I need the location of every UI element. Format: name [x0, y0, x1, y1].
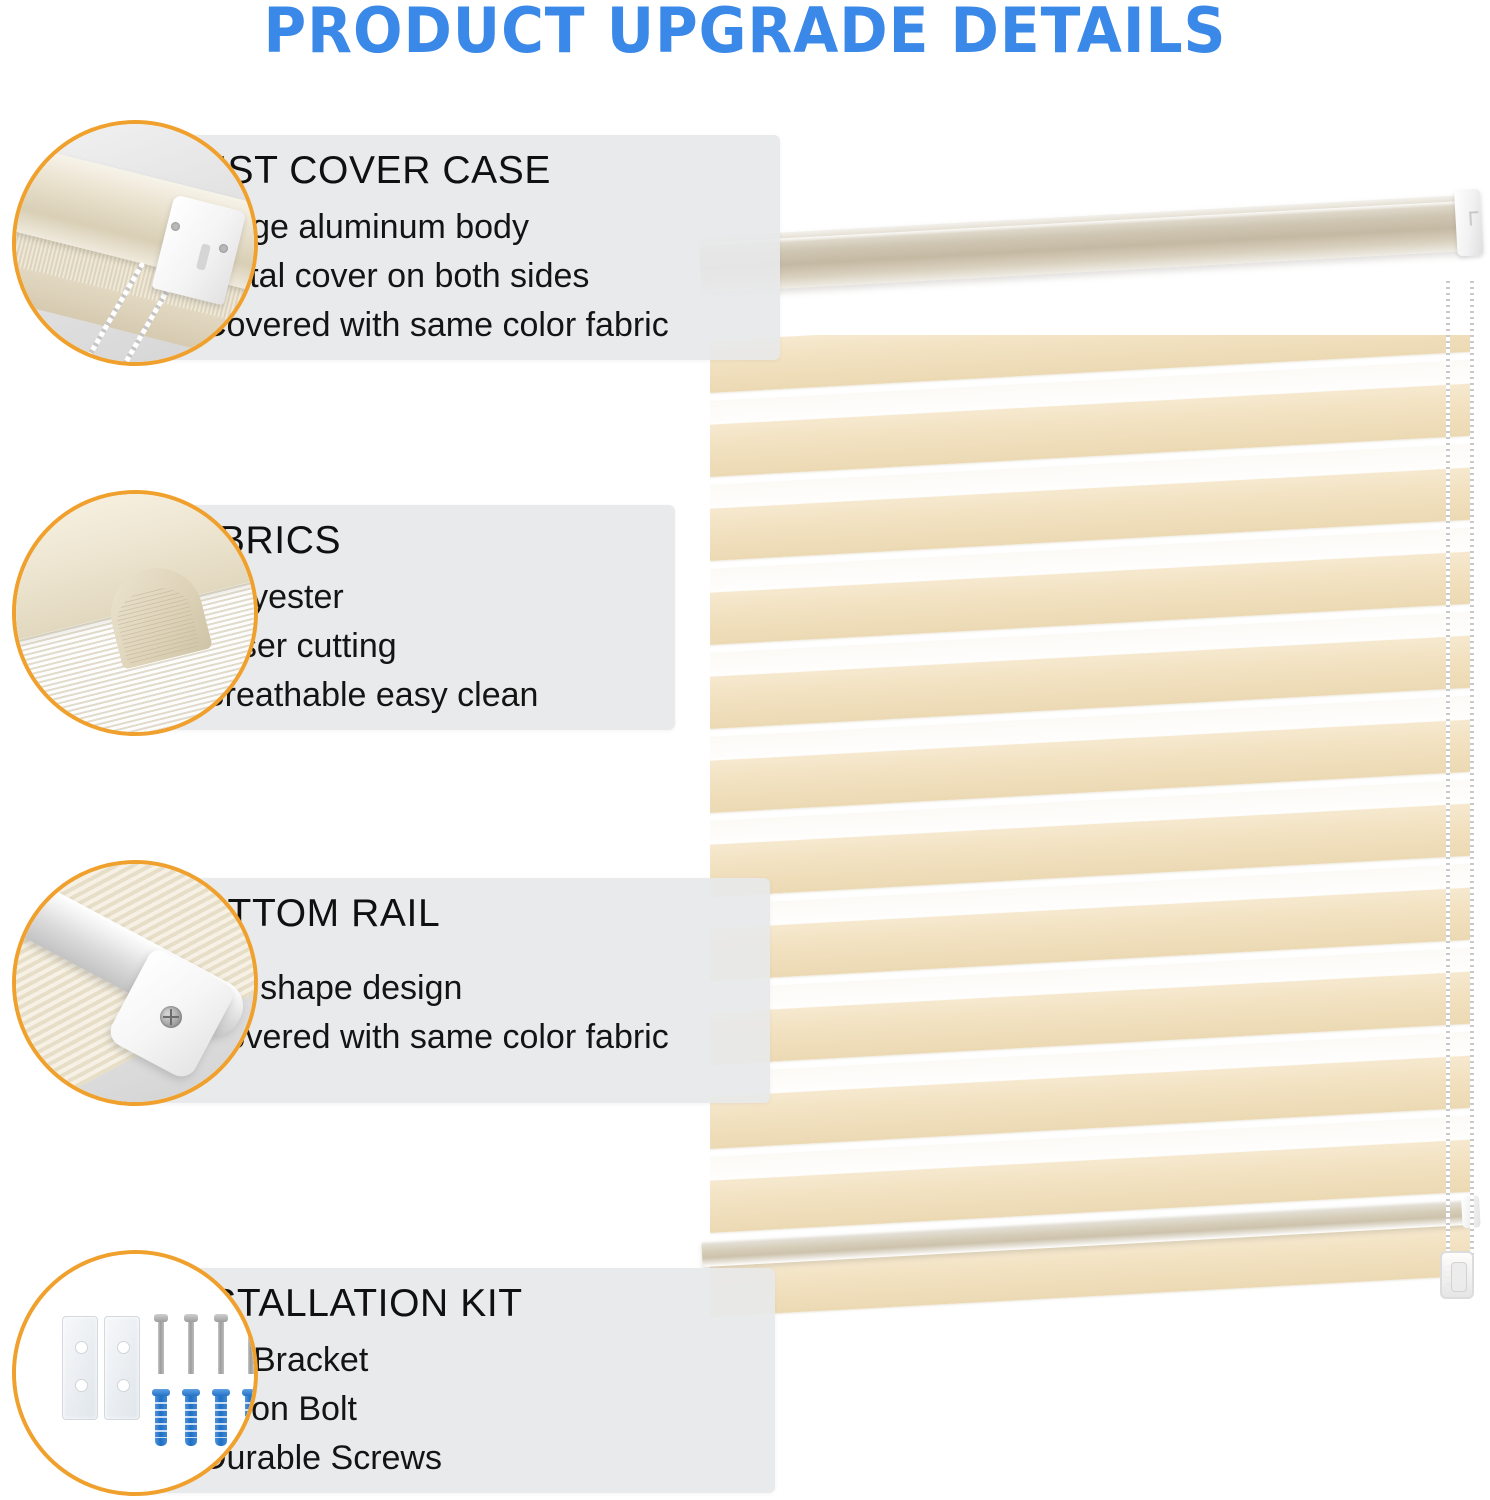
- headrail-end-cap: [1454, 189, 1484, 256]
- fabrics-photo: [12, 490, 258, 736]
- l-bracket-icon: [62, 1316, 98, 1420]
- wall-anchor-icon: [155, 1394, 167, 1446]
- bottom-rail-photo: [12, 860, 258, 1106]
- thumb-image: [16, 494, 254, 732]
- photo-screw: [219, 244, 228, 253]
- wall-anchor-icon: [245, 1394, 254, 1446]
- infographic-page: PRODUCT UPGRADE DETAILS: [0, 0, 1490, 1500]
- wall-anchor-icon: [185, 1394, 197, 1446]
- photo-screw: [171, 222, 180, 231]
- thumb-image: [16, 864, 254, 1102]
- screw-icon: [248, 1320, 254, 1374]
- bead-chain-left: [1446, 277, 1450, 1287]
- screw-icon: [158, 1320, 164, 1374]
- headrail-bracket-icon: [1469, 211, 1479, 225]
- headrail-lip: [699, 201, 1468, 247]
- screw-icon: [188, 1320, 194, 1374]
- blind-fabric: [710, 335, 1470, 1335]
- zebra-roller-blind-image: [690, 215, 1490, 1330]
- chain-connector: [1440, 1251, 1474, 1299]
- screw-icon: [218, 1320, 224, 1374]
- page-title: PRODUCT UPGRADE DETAILS: [45, 0, 1446, 67]
- installation-kit-photo: [12, 1250, 258, 1496]
- bead-chain-right: [1470, 277, 1474, 1267]
- headrail-dust-cover: [698, 195, 1470, 293]
- photo-screw: [160, 1006, 182, 1028]
- dust-cover-case-photo: [12, 120, 258, 366]
- thumb-image: [16, 1254, 254, 1492]
- l-bracket-icon: [104, 1316, 140, 1420]
- wall-anchor-icon: [215, 1394, 227, 1446]
- thumb-image: [16, 124, 254, 362]
